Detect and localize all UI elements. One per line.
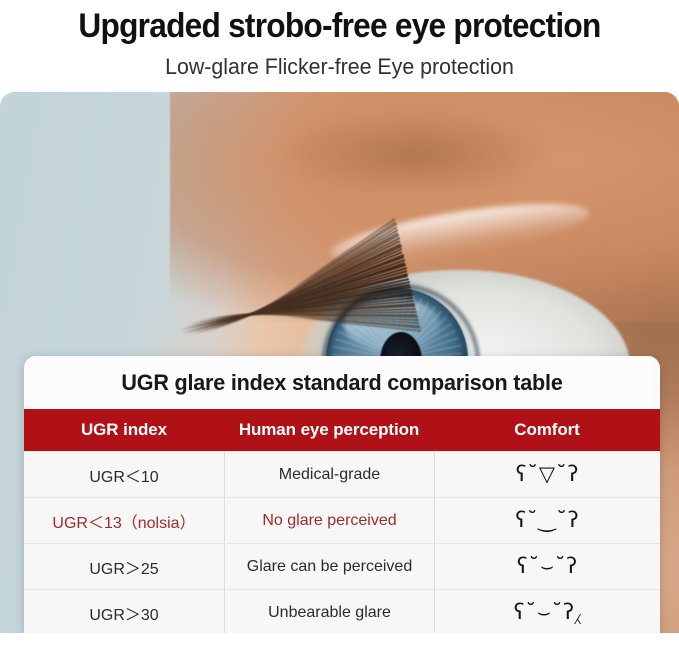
- comfort-face-icon: ʕ˘▽˘ʔ: [516, 464, 580, 485]
- page-title: Upgraded strobo-free eye protection: [24, 2, 655, 46]
- eye-photo-panel: UGR glare index standard comparison tabl…: [0, 92, 679, 633]
- comfort-face-icon: ʕ˘⌣˘ʔ: [517, 556, 578, 577]
- cell-perception: No glare perceived: [224, 498, 434, 543]
- cell-comfort: ʕ˘‿˘ʔ: [434, 498, 660, 543]
- table-title: UGR glare index standard comparison tabl…: [30, 356, 653, 409]
- cell-perception: Medical-grade: [224, 452, 434, 497]
- page-subtitle: Low-glare Flicker-free Eye protection: [10, 46, 669, 82]
- comfort-face-icon: ʕ˘‿˘ʔ: [515, 510, 579, 531]
- column-header-human-eye-perception: Human eye perception: [224, 409, 434, 451]
- photo-brow-shadow: [250, 100, 580, 190]
- cell-comfort: ʕ˘⌣˘ʔ⁁: [434, 590, 660, 633]
- cell-ugr-index: UGR＜10: [24, 452, 224, 497]
- cell-perception: Unbearable glare: [224, 590, 434, 633]
- table-row: UGR＜13（nolsia） No glare perceived ʕ˘‿˘ʔ: [24, 497, 660, 543]
- cell-ugr-index: UGR＞25: [24, 544, 224, 589]
- page-header: Upgraded strobo-free eye protection Low-…: [0, 0, 679, 82]
- table-row: UGR＞30 Unbearable glare ʕ˘⌣˘ʔ⁁: [24, 589, 660, 633]
- cell-comfort: ʕ˘▽˘ʔ: [434, 452, 660, 497]
- cell-ugr-index: UGR＞30: [24, 590, 224, 633]
- table-row: UGR＞25 Glare can be perceived ʕ˘⌣˘ʔ: [24, 543, 660, 589]
- cell-ugr-index: UGR＜13（nolsia）: [24, 498, 224, 543]
- table-header-row: UGR index Human eye perception Comfort: [24, 409, 660, 451]
- column-header-comfort: Comfort: [434, 409, 660, 451]
- cell-comfort: ʕ˘⌣˘ʔ: [434, 544, 660, 589]
- table-row: UGR＜10 Medical-grade ʕ˘▽˘ʔ: [24, 451, 660, 497]
- cell-perception: Glare can be perceived: [224, 544, 434, 589]
- photo-eyelashes-upper: [95, 202, 425, 362]
- comfort-face-icon: ʕ˘⌣˘ʔ⁁: [514, 602, 582, 623]
- ugr-comparison-table: UGR glare index standard comparison tabl…: [24, 356, 660, 633]
- column-header-ugr-index: UGR index: [24, 409, 224, 451]
